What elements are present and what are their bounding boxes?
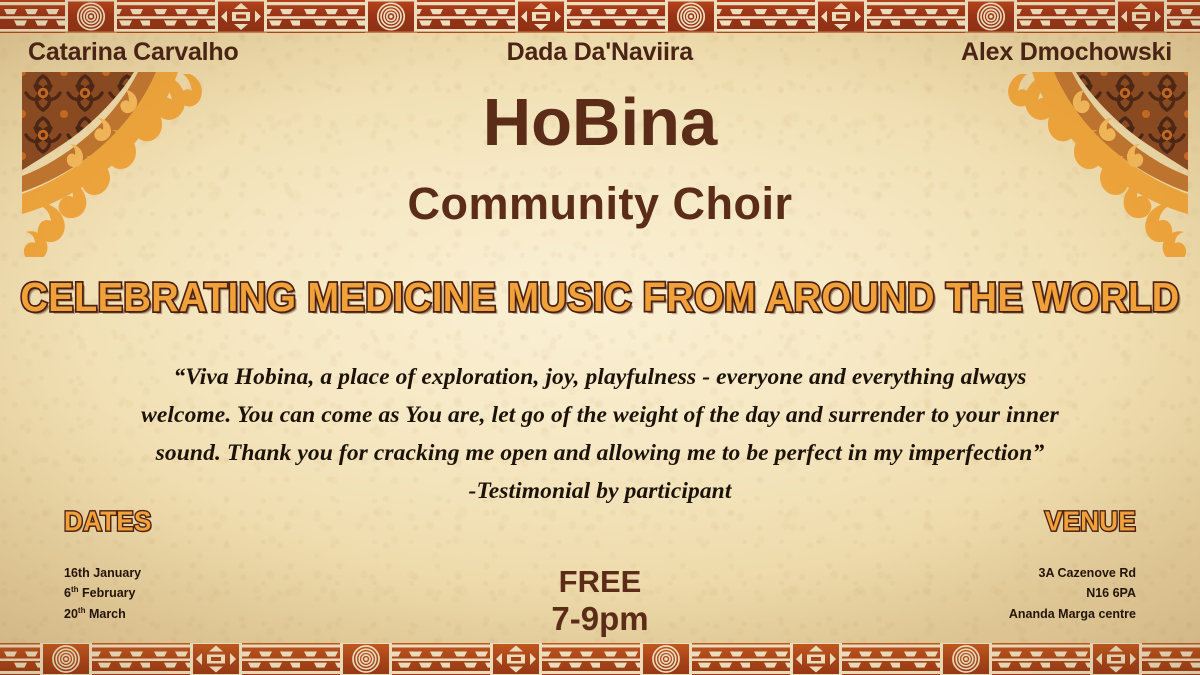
tagline-banner: CELEBRATING MEDICINE MUSIC FROM AROUND T… — [0, 277, 1200, 320]
presenter-name-1: Catarina Carvalho — [28, 38, 239, 67]
tagline-text: CELEBRATING MEDICINE MUSIC FROM AROUND T… — [20, 275, 1179, 321]
bottom-border-pattern — [0, 643, 1200, 675]
admission-price: FREE — [0, 566, 1200, 597]
event-poster: Catarina Carvalho Dada Da'Naviira Alex D… — [0, 0, 1200, 675]
poster-title: HoBina — [0, 88, 1200, 158]
top-border-pattern — [0, 0, 1200, 33]
admission-time: 7-9pm — [0, 602, 1200, 635]
admission-block: FREE 7-9pm — [0, 566, 1200, 635]
poster-subtitle: Community Choir — [0, 178, 1200, 230]
testimonial-attribution: -Testimonial by participant — [130, 472, 1070, 510]
testimonial-block: “Viva Hobina, a place of exploration, jo… — [130, 358, 1070, 510]
dates-heading: DATES — [64, 505, 152, 538]
presenter-name-2: Dada Da'Naviira — [239, 38, 961, 67]
testimonial-text: “Viva Hobina, a place of exploration, jo… — [141, 364, 1059, 466]
presenter-names-row: Catarina Carvalho Dada Da'Naviira Alex D… — [0, 38, 1200, 67]
headline-block: HoBina Community Choir — [0, 88, 1200, 230]
presenter-name-3: Alex Dmochowski — [961, 38, 1172, 67]
venue-heading: VENUE — [1045, 505, 1136, 538]
